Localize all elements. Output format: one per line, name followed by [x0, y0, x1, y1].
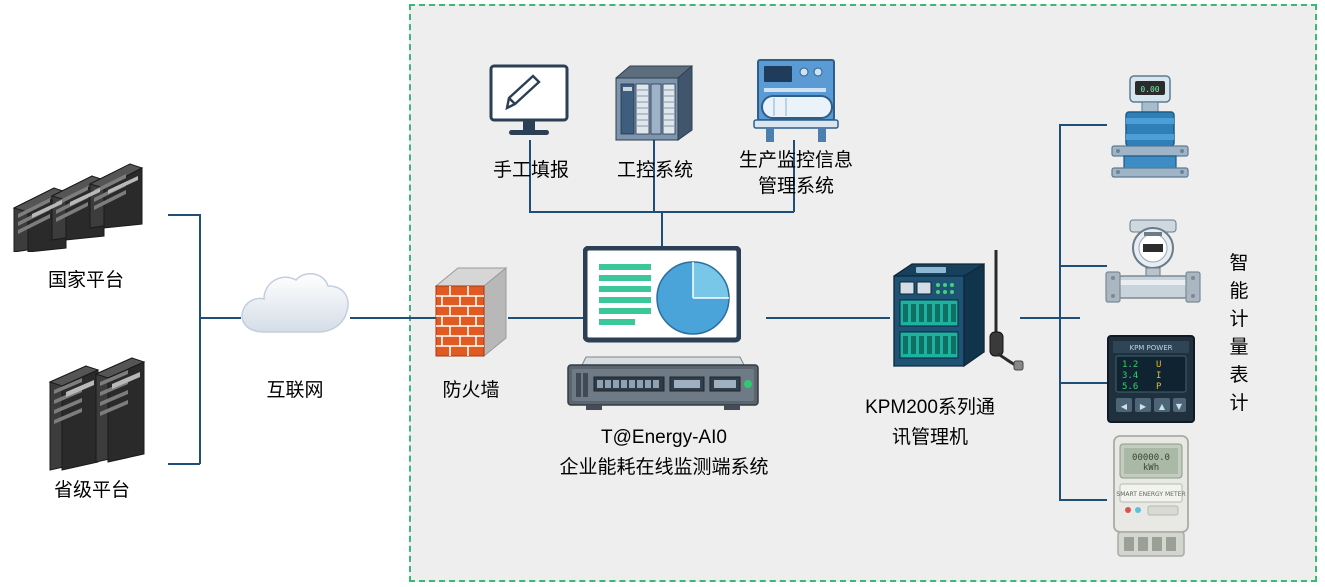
communication-gateway-icon	[886, 248, 1024, 378]
svg-text:KPM POWER: KPM POWER	[1129, 344, 1172, 352]
rack-server-icon	[560, 355, 766, 411]
line-national-to-trunk	[168, 214, 200, 216]
provincial-platform-label: 省级平台	[22, 478, 162, 504]
line-trunk-meter1	[1059, 124, 1107, 126]
turbine-flowmeter-icon	[1098, 216, 1208, 312]
svg-text:▲: ▲	[1159, 402, 1166, 411]
line-trunk-meter4	[1059, 499, 1107, 501]
line-gateway-to-trunk	[1020, 317, 1080, 319]
provincial-platform-icon	[44, 356, 168, 476]
manual-entry-label: 手工填报	[469, 158, 593, 184]
firewall-label: 防火墙	[401, 378, 541, 404]
main-system-label: T@Energy-AI0 企业能耗在线监测端系统	[533, 423, 795, 483]
svg-text:I: I	[1156, 371, 1161, 381]
firewall-icon	[432, 264, 510, 360]
gateway-label: KPM200系列通 讯管理机	[838, 393, 1022, 453]
svg-text:P: P	[1156, 382, 1162, 392]
svg-text:▼: ▼	[1176, 402, 1183, 411]
svg-text:3.4: 3.4	[1122, 371, 1138, 381]
line-firewall-to-main	[508, 317, 586, 319]
industrial-machine-icon	[752, 56, 842, 146]
internet-label: 互联网	[225, 378, 365, 404]
line-meter-trunk	[1059, 124, 1061, 500]
computer-server-icon	[583, 246, 741, 356]
svg-text:00000.0: 00000.0	[1132, 453, 1170, 463]
line-left-trunk	[199, 214, 201, 464]
line-provincial-to-trunk	[168, 463, 200, 465]
meters-group-label: 智能计量表计	[1222, 250, 1256, 418]
line-cloud-to-firewall	[350, 317, 436, 319]
diagram-canvas: 国家平台 省级平台	[0, 0, 1325, 587]
svg-text:▶: ▶	[1140, 402, 1147, 411]
electricity-meter-icon: 00000.0 kWh SMART ENERGY METER	[1108, 434, 1194, 558]
svg-text:1.2: 1.2	[1122, 360, 1138, 370]
svg-text:0.00: 0.00	[1140, 85, 1159, 94]
cloud-icon	[234, 262, 356, 344]
svg-text:U: U	[1156, 360, 1161, 370]
power-meter-icon: KPM POWER 1.2 3.4 5.6 U I P ◀▶ ▲▼	[1104, 332, 1198, 426]
national-platform-label: 国家平台	[16, 268, 156, 294]
svg-text:kWh: kWh	[1143, 463, 1159, 473]
plc-rack-icon	[612, 58, 698, 144]
svg-text:◀: ◀	[1121, 402, 1128, 411]
line-main-to-gateway	[766, 317, 890, 319]
svg-text:SMART ENERGY METER: SMART ENERGY METER	[1116, 491, 1185, 498]
national-platform-icon	[6, 160, 166, 252]
electromagnetic-flowmeter-icon: 0.00	[1104, 72, 1200, 178]
line-trunk-meter3	[1059, 382, 1107, 384]
monitor-pencil-icon	[489, 64, 573, 140]
industrial-control-label: 工控系统	[593, 158, 717, 184]
svg-text:5.6: 5.6	[1122, 382, 1138, 392]
line-bus-to-main	[661, 211, 663, 247]
production-mis-label: 生产监控信息 管理系统	[717, 148, 875, 200]
